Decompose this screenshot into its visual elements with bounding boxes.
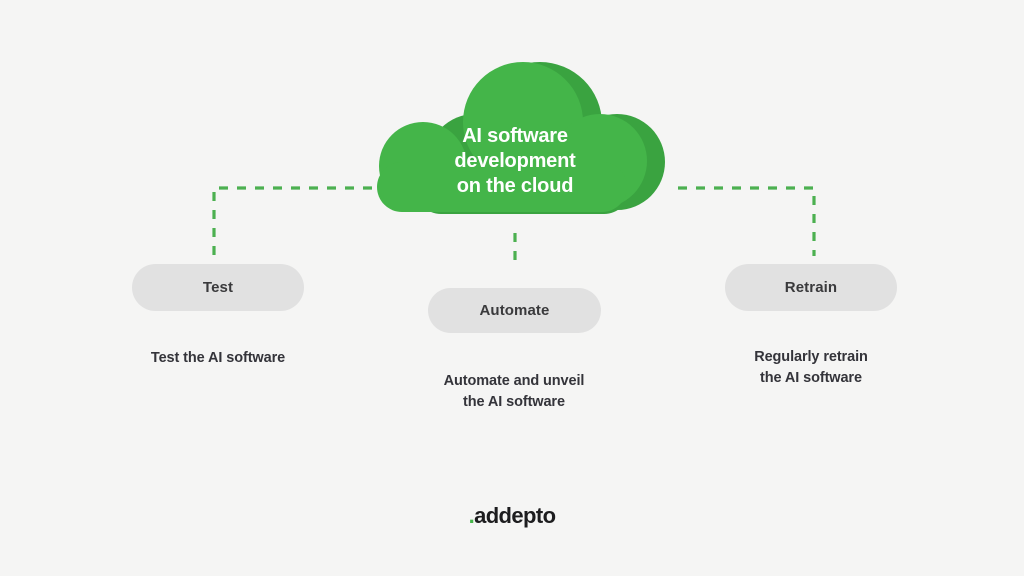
connector-left	[210, 184, 372, 256]
caption-test: Test the AI software	[108, 348, 328, 369]
cloud-node: AI software development on the cloud	[355, 62, 675, 222]
caption-automate: Automate and unveil the AI software	[404, 371, 624, 413]
caption-retrain: Regularly retrain the AI software	[701, 347, 921, 389]
pill-test[interactable]: Test	[132, 264, 304, 311]
pill-automate-label: Automate	[480, 302, 550, 319]
addepto-logo: .addepto	[0, 503, 1024, 529]
pill-retrain-label: Retrain	[785, 279, 837, 296]
logo-wordmark: addepto	[474, 503, 555, 528]
pill-automate[interactable]: Automate	[428, 288, 601, 333]
pill-retrain[interactable]: Retrain	[725, 264, 897, 311]
diagram-canvas: AI software development on the cloud Tes…	[0, 0, 1024, 576]
connector-center	[511, 233, 519, 268]
pill-test-label: Test	[203, 279, 233, 296]
cloud-shape-icon	[355, 62, 675, 222]
connector-right	[678, 184, 818, 256]
